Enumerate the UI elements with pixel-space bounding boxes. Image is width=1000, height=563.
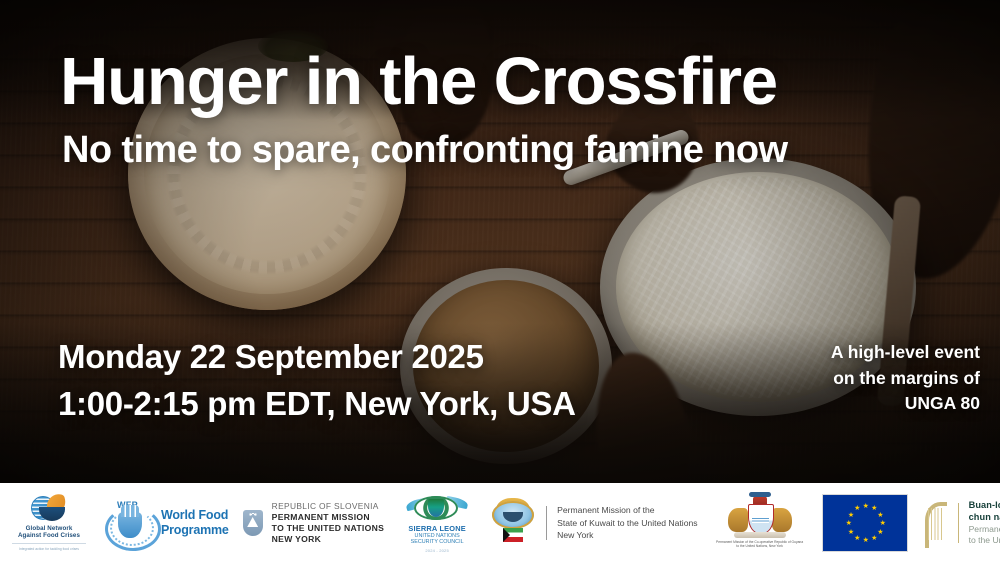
globe-wheat-hand-icon xyxy=(29,495,69,521)
logo-text: World Food Programme xyxy=(161,508,229,538)
sierra-leone-line-1: SIERRA LEONE xyxy=(408,524,466,533)
event-banner: Hunger in the Crossfire No time to spare… xyxy=(0,0,1000,563)
wfp-hand-wreath-icon: WFP xyxy=(104,500,156,546)
harp-icon xyxy=(922,502,948,544)
eu-star-icon: ★ xyxy=(877,530,883,536)
hand-icon xyxy=(39,507,65,521)
logo-text: Permanent Mission of the Co-operative Re… xyxy=(713,540,807,549)
jaguar-right-icon xyxy=(772,508,792,532)
hand-with-grain-icon xyxy=(118,512,142,538)
logo-world-food-programme: WFP World Food Programme xyxy=(104,492,229,554)
kuwait-line-2: State of Kuwait to the United Nations xyxy=(557,517,697,529)
event-datetime-block: Monday 22 September 2025 1:00-2:15 pm ED… xyxy=(58,334,576,428)
ireland-line-3: Permanent Mission of Ireland xyxy=(969,524,1000,536)
sierra-leone-emblem-icon xyxy=(406,494,468,522)
european-union-flag-icon: ★★★★★★★★★★★★ xyxy=(822,494,908,552)
eu-star-icon: ★ xyxy=(880,521,886,527)
logo-text: Global Network Against Food Crises xyxy=(18,525,80,541)
text-overlay: Hunger in the Crossfire No time to spare… xyxy=(0,0,1000,563)
eu-star-icon: ★ xyxy=(863,538,869,544)
eu-star-icon: ★ xyxy=(854,506,860,512)
eu-star-icon: ★ xyxy=(871,536,877,542)
logo-european-union: ★★★★★★★★★★★★ xyxy=(822,492,908,554)
page-title: Hunger in the Crossfire xyxy=(60,48,777,115)
eu-star-icon: ★ xyxy=(877,513,883,519)
event-note-line-1: A high-level event xyxy=(750,340,980,366)
eu-star-icon: ★ xyxy=(871,506,877,512)
event-note-line-2: on the margins of xyxy=(750,366,980,392)
slovenia-line-2: PERMANENT MISSION xyxy=(272,512,384,523)
divider xyxy=(958,503,959,543)
ireland-line-1: Buan-Ionad na hÉireann xyxy=(969,499,1000,511)
subtitle: No time to spare, confronting famine now xyxy=(62,131,787,169)
sierra-leone-term-years: 2024 - 2025 xyxy=(425,548,449,553)
ireland-line-4: to the United Nations xyxy=(969,535,1000,547)
jaguar-left-icon xyxy=(728,508,748,532)
logo-tagline: Integrated action for tackling food cris… xyxy=(12,543,86,551)
logo-text: Permanent Mission of the State of Kuwait… xyxy=(557,504,697,541)
ireland-line-2: chun na Náisiún Aontaithe xyxy=(969,511,1000,523)
guyana-coat-of-arms-icon xyxy=(722,498,798,538)
eu-star-icon: ★ xyxy=(848,513,854,519)
logo-text: REPUBLIC OF SLOVENIA PERMANENT MISSION T… xyxy=(272,501,384,545)
kuwait-flag-icon xyxy=(503,528,523,542)
kuwait-emblem-icon xyxy=(490,500,536,546)
eu-star-icon: ★ xyxy=(846,521,852,527)
partner-logo-bar: Global Network Against Food Crises Integ… xyxy=(0,483,1000,563)
logo-guyana-mission: Permanent Mission of the Co-operative Re… xyxy=(712,492,808,554)
slovenia-coat-of-arms-icon xyxy=(243,510,263,536)
logo-text: Buan-Ionad na hÉireann chun na Náisiún A… xyxy=(969,499,1000,547)
sierra-leone-line-2-3: UNITED NATIONS SECURITY COUNCIL xyxy=(411,533,464,547)
logo-global-network-against-food-crises: Global Network Against Food Crises Integ… xyxy=(8,492,90,554)
eu-star-icon: ★ xyxy=(863,504,869,510)
logo-kuwait-mission: Permanent Mission of the State of Kuwait… xyxy=(490,492,697,554)
logo-ireland-mission: Buan-Ionad na hÉireann chun na Náisiún A… xyxy=(922,492,1000,554)
logo-sierra-leone-unsc: SIERRA LEONE UNITED NATIONS SECURITY COU… xyxy=(398,492,476,554)
divider xyxy=(546,506,547,540)
eu-star-icon: ★ xyxy=(848,530,854,536)
slovenia-line-3: TO THE UNITED NATIONS xyxy=(272,523,384,534)
logo-republic-of-slovenia-mission: REPUBLIC OF SLOVENIA PERMANENT MISSION T… xyxy=(243,492,384,554)
eu-star-icon: ★ xyxy=(854,536,860,542)
shield-icon xyxy=(748,504,774,534)
event-date: Monday 22 September 2025 xyxy=(58,334,576,381)
slovenia-line-1: REPUBLIC OF SLOVENIA xyxy=(272,501,384,512)
slovenia-line-4: NEW YORK xyxy=(272,534,384,545)
kuwait-line-3: New York xyxy=(557,529,697,541)
motto-scroll-icon xyxy=(734,532,786,538)
kuwait-line-1: Permanent Mission of the xyxy=(557,504,697,516)
event-note-line-3: UNGA 80 xyxy=(750,391,980,417)
event-time-location: 1:00-2:15 pm EDT, New York, USA xyxy=(58,381,576,428)
event-context-note: A high-level event on the margins of UNG… xyxy=(750,340,980,417)
